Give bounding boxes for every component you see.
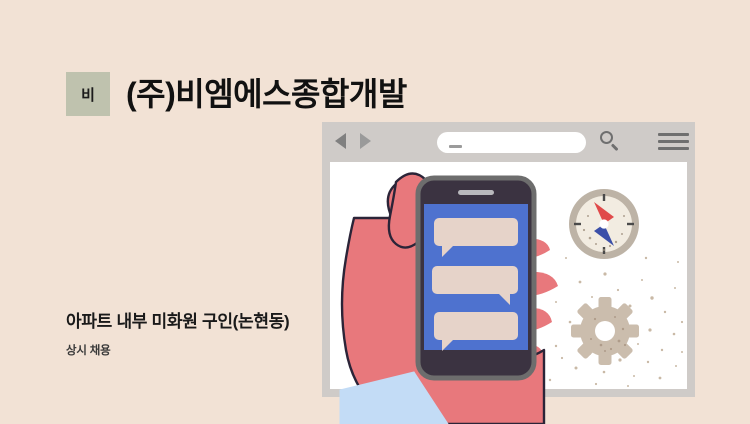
hand-holding-phone-illustration [322,122,695,424]
smartphone [418,178,534,378]
phone-speaker [458,190,494,195]
company-header: 비 (주)비엠에스종합개발 [66,72,407,116]
poster-canvas: 비 (주)비엠에스종합개발 아파트 내부 미화원 구인(논현동) 상시 채용 [0,0,750,424]
company-logo-badge: 비 [66,72,110,116]
job-title: 아파트 내부 미화원 구인(논현동) [66,307,289,332]
company-name: (주)비엠에스종합개발 [126,78,407,110]
job-recruitment-type: 상시 채용 [66,342,111,358]
